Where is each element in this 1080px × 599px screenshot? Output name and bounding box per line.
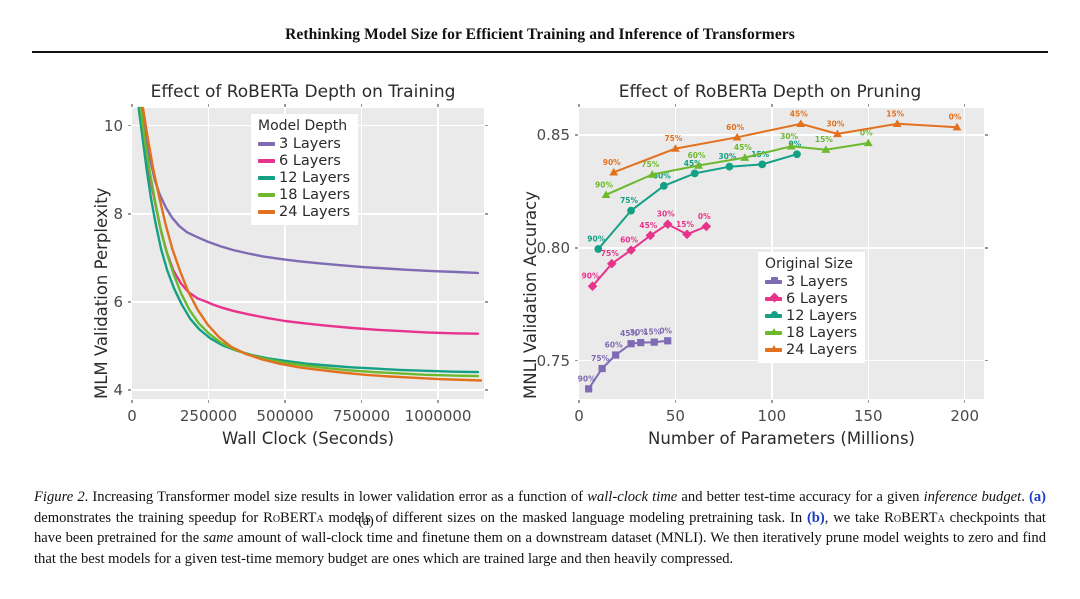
xtick-mark (868, 104, 869, 107)
chart-a-xaxis-label: Wall Clock (Seconds) (222, 429, 394, 448)
legend-color-swatch (258, 193, 275, 197)
caption-text-1: . Increasing Transformer model size resu… (85, 489, 588, 505)
chart-b-xtick: 50 (666, 407, 685, 425)
chart-b-legend-title: Original Size (765, 256, 857, 272)
chart-b-xaxis-label: Number of Parameters (Millions) (648, 429, 915, 448)
chart-a-xtick: 750000 (333, 407, 390, 425)
chart-b-xtick: 200 (950, 407, 979, 425)
ytick-mark (485, 389, 488, 390)
caption-ref-a[interactable]: (a) (1029, 489, 1046, 505)
gridline-vertical (675, 108, 676, 399)
chart-a-xtick: 500000 (256, 407, 313, 425)
gridline-vertical (361, 108, 362, 399)
chart-a-xtick: 250000 (180, 407, 237, 425)
xtick-mark (131, 400, 132, 403)
gridline-vertical (964, 108, 965, 399)
chart-a-legend: Model Depth 3 Layers6 Layers12 Layers18 … (251, 114, 358, 225)
xtick-mark (437, 104, 438, 107)
caption-ref-b[interactable]: (b) (807, 510, 825, 526)
ytick-mark (485, 213, 488, 214)
gridline-vertical (437, 108, 438, 399)
chart-b-xtick: 150 (854, 407, 883, 425)
xtick-mark (868, 400, 869, 403)
xtick-mark (771, 400, 772, 403)
ytick-mark (128, 213, 131, 214)
chart-a-title: Effect of RoBERTa Depth on Training (78, 82, 528, 102)
caption-figure-number: Figure 2 (34, 489, 85, 505)
figure-2: Effect of RoBERTa Depth on Training 4681… (0, 62, 1080, 477)
legend-item-24-layers[interactable]: 24 Layers (765, 341, 857, 358)
chart-a-ytick: 10 (78, 117, 123, 135)
xtick-mark (361, 104, 362, 107)
figure-page: Rethinking Model Size for Efficient Trai… (0, 0, 1080, 599)
chart-b-ytick: 0.85 (515, 126, 570, 144)
ytick-mark (985, 247, 988, 248)
legend-item-18-layers[interactable]: 18 Layers (258, 186, 350, 203)
xtick-mark (131, 104, 132, 107)
gridline-horizontal (579, 134, 984, 135)
xtick-mark (771, 104, 772, 107)
caption-text-6b: BERT (901, 510, 937, 526)
ytick-mark (128, 301, 131, 302)
chart-b-title: Effect of RoBERTa Depth on Pruning (515, 82, 1025, 102)
ytick-mark (485, 301, 488, 302)
caption-text-4b: BERT (280, 510, 316, 526)
gridline-horizontal (132, 389, 484, 390)
xtick-mark (675, 400, 676, 403)
ytick-mark (575, 247, 578, 248)
chart-b-yaxis-label: MNLI Validation Accuracy (521, 191, 540, 399)
legend-color-swatch (765, 314, 782, 318)
caption-text-4: demonstrates the training speedup for R (34, 510, 273, 526)
panel-a: Effect of RoBERTa Depth on Training 4681… (78, 62, 528, 477)
caption-em-2: inference budget (924, 489, 1022, 505)
legend-item-label: 3 Layers (786, 274, 848, 290)
legend-item-label: 18 Layers (279, 187, 350, 203)
legend-color-swatch (765, 297, 782, 301)
caption-text-3: . (1021, 489, 1029, 505)
legend-item-18-layers[interactable]: 18 Layers (765, 324, 857, 341)
panel-b: Effect of RoBERTa Depth on Pruning 90%75… (515, 62, 1025, 477)
chart-a-legend-title: Model Depth (258, 118, 350, 134)
caption-smallcaps-4: a (938, 510, 945, 526)
legend-item-label: 6 Layers (279, 153, 341, 169)
legend-color-swatch (765, 348, 782, 352)
legend-item-label: 3 Layers (279, 136, 341, 152)
header-divider (32, 51, 1048, 53)
chart-a-yaxis-label: MLM Validation Perplexity (92, 188, 111, 399)
xtick-mark (208, 104, 209, 107)
chart-a-xtick: 1000000 (405, 407, 472, 425)
ytick-mark (985, 360, 988, 361)
legend-color-swatch (258, 159, 275, 163)
xtick-mark (284, 104, 285, 107)
legend-item-3-layers[interactable]: 3 Layers (258, 135, 350, 152)
xtick-mark (964, 400, 965, 403)
ytick-mark (128, 389, 131, 390)
chart-a-xtick: 0 (127, 407, 137, 425)
ytick-mark (575, 134, 578, 135)
legend-item-label: 18 Layers (786, 325, 857, 341)
ytick-mark (985, 134, 988, 135)
running-header: Rethinking Model Size for Efficient Trai… (0, 26, 1080, 44)
xtick-mark (964, 104, 965, 107)
chart-b-legend: Original Size 3 Layers6 Layers12 Layers1… (758, 252, 865, 363)
xtick-mark (675, 104, 676, 107)
gridline-horizontal (579, 247, 984, 248)
chart-b-xtick: 0 (574, 407, 584, 425)
legend-item-6-layers[interactable]: 6 Layers (258, 152, 350, 169)
caption-smallcaps-1: o (273, 510, 280, 526)
legend-color-swatch (258, 142, 275, 146)
caption-text-2: and better test-time accuracy for a give… (677, 489, 923, 505)
legend-item-label: 12 Layers (279, 170, 350, 186)
ytick-mark (485, 125, 488, 126)
gridline-vertical (208, 108, 209, 399)
paper-title: Rethinking Model Size for Efficient Trai… (285, 26, 795, 43)
gridline-horizontal (132, 301, 484, 302)
legend-item-12-layers[interactable]: 12 Layers (258, 169, 350, 186)
ytick-mark (128, 125, 131, 126)
legend-item-24-layers[interactable]: 24 Layers (258, 203, 350, 220)
chart-b-xtick: 100 (758, 407, 787, 425)
xtick-mark (578, 400, 579, 403)
legend-color-swatch (765, 280, 782, 284)
xtick-mark (361, 400, 362, 403)
caption-text-5: models of different sizes on the masked … (324, 510, 807, 526)
xtick-mark (578, 104, 579, 107)
caption-smallcaps-2: a (316, 510, 323, 526)
legend-item-label: 24 Layers (279, 204, 350, 220)
legend-item-6-layers[interactable]: 6 Layers (765, 290, 857, 307)
caption-em-3: same (203, 530, 233, 546)
legend-item-label: 12 Layers (786, 308, 857, 324)
gridline-vertical (868, 108, 869, 399)
xtick-mark (208, 400, 209, 403)
ytick-mark (575, 360, 578, 361)
caption-text-6: , we take R (825, 510, 894, 526)
legend-item-label: 6 Layers (786, 291, 848, 307)
caption-em-1: wall-clock time (587, 489, 677, 505)
legend-item-12-layers[interactable]: 12 Layers (765, 307, 857, 324)
legend-color-swatch (765, 331, 782, 335)
legend-item-label: 24 Layers (786, 342, 857, 358)
xtick-mark (437, 400, 438, 403)
xtick-mark (284, 400, 285, 403)
legend-color-swatch (258, 210, 275, 214)
legend-color-swatch (258, 176, 275, 180)
legend-item-3-layers[interactable]: 3 Layers (765, 273, 857, 290)
figure-caption: Figure 2. Increasing Transformer model s… (34, 487, 1046, 569)
